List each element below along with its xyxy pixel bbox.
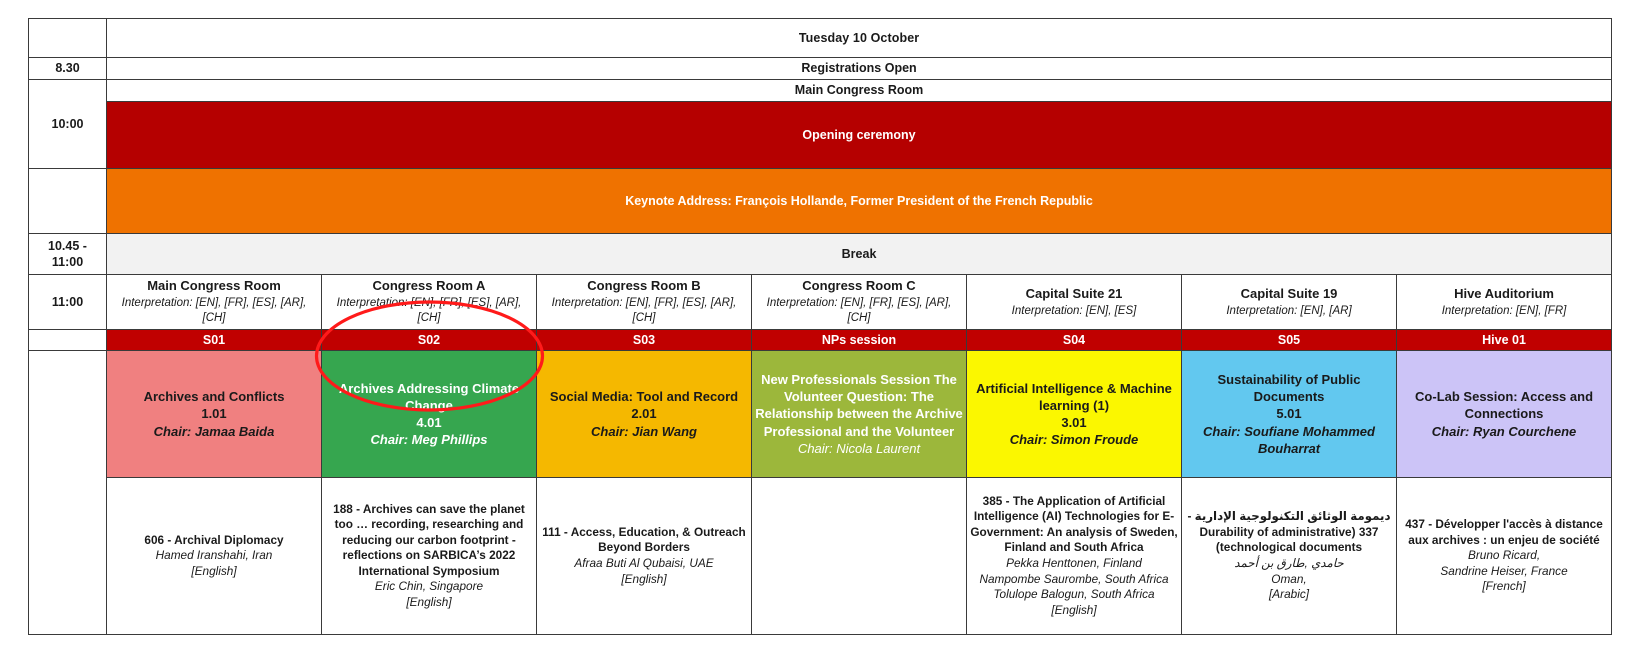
room-header-4: Capital Suite 21 Interpretation: [EN], […	[967, 275, 1182, 330]
keynote-row: Keynote Address: François Hollande, Form…	[29, 169, 1612, 234]
session-title-5: Sustainability of Public Documents	[1185, 371, 1393, 405]
session-code-4: S04	[967, 329, 1182, 351]
paper-title-0: 606 - Archival Diplomacy	[110, 533, 318, 549]
day-title: Tuesday 10 October	[107, 19, 1612, 58]
day-title-row: Tuesday 10 October	[29, 19, 1612, 58]
room-name-2: Congress Room B	[540, 277, 748, 294]
room-name-1: Congress Room A	[325, 277, 533, 294]
paper-language-0: [English]	[110, 564, 318, 580]
session-code-1: S02	[322, 329, 537, 351]
session-cell-6[interactable]: Co-Lab Session: Access and Connections C…	[1397, 351, 1612, 478]
main-room-label-row: 10:00 Main Congress Room	[29, 80, 1612, 102]
keynote-block[interactable]: Keynote Address: François Hollande, Form…	[107, 169, 1612, 234]
session-chair-6: Chair: Ryan Courchene	[1400, 423, 1608, 440]
room-header-1: Congress Room A Interpretation: [EN], [F…	[322, 275, 537, 330]
paper-author-rtl-5-0: حامدي ,طارق بن أحمد	[1185, 556, 1393, 572]
paper-language-4: [English]	[970, 603, 1178, 619]
room-header-2: Congress Room B Interpretation: [EN], [F…	[537, 275, 752, 330]
paper-author-6-0: Bruno Ricard,	[1400, 548, 1608, 564]
room-interpretation-3: Interpretation: [EN], [FR], [ES], [AR], …	[755, 296, 963, 326]
room-name-3: Congress Room C	[755, 277, 963, 294]
conference-schedule-table: Tuesday 10 October 8.30 Registrations Op…	[28, 18, 1612, 635]
session-chair-2: Chair: Jian Wang	[540, 423, 748, 440]
registrations-row: 8.30 Registrations Open	[29, 58, 1612, 80]
room-interpretation-1: Interpretation: [EN], [FR], [ES], [AR], …	[325, 296, 533, 326]
paper-cell-4[interactable]: 385 - The Application of Artificial Inte…	[967, 478, 1182, 635]
time-sessions: 11:00	[29, 275, 107, 330]
session-code-0: S01	[107, 329, 322, 351]
time-break: 10.45 - 11:00	[29, 234, 107, 275]
paper-author-0-0: Hamed Iranshahi, Iran	[110, 548, 318, 564]
paper-cell-1[interactable]: 188 - Archives can save the planet too ……	[322, 478, 537, 635]
room-name-0: Main Congress Room	[110, 277, 318, 294]
room-header-row: 11:00 Main Congress Room Interpretation:…	[29, 275, 1612, 330]
room-interpretation-6: Interpretation: [EN], [FR]	[1400, 304, 1608, 319]
session-chair-4: Chair: Simon Froude	[970, 431, 1178, 448]
session-code-row: S01 S02 S03 NPs session S04 S05 Hive 01	[29, 329, 1612, 351]
time-cell-sessions-empty	[29, 351, 107, 635]
paper-author-4-2: Tolulope Balogun, South Africa	[970, 587, 1178, 603]
time-cell-codes-empty	[29, 329, 107, 351]
time-cell-empty	[29, 19, 107, 58]
paper-language-5: [Arabic]	[1185, 587, 1393, 603]
room-header-6: Hive Auditorium Interpretation: [EN], [F…	[1397, 275, 1612, 330]
session-code-6: Hive 01	[1397, 329, 1612, 351]
session-cell-1[interactable]: Archives Addressing Climate Change 4.01 …	[322, 351, 537, 478]
session-chair-5: Chair: Soufiane Mohammed Bouharrat	[1185, 423, 1393, 457]
paper-author-6-1: Sandrine Heiser, France	[1400, 564, 1608, 580]
paper-cell-3	[752, 478, 967, 635]
paper-cell-5[interactable]: ديمومة الوثائق التكنولوجية الإدارية - 33…	[1182, 478, 1397, 635]
paper-language-2: [English]	[540, 572, 748, 588]
registrations-label: Registrations Open	[107, 58, 1612, 80]
room-header-3: Congress Room C Interpretation: [EN], [F…	[752, 275, 967, 330]
opening-ceremony-block[interactable]: Opening ceremony	[107, 102, 1612, 169]
paper-author-5-0: Oman,	[1185, 572, 1393, 588]
paper-language-1: [English]	[325, 595, 533, 611]
room-header-5: Capital Suite 19 Interpretation: [EN], […	[1182, 275, 1397, 330]
break-block: Break	[107, 234, 1612, 275]
paper-cell-0[interactable]: 606 - Archival Diplomacy Hamed Iranshahi…	[107, 478, 322, 635]
room-name-6: Hive Auditorium	[1400, 285, 1608, 302]
session-cell-4[interactable]: Artificial Intelligence & Machine learni…	[967, 351, 1182, 478]
session-cell-2[interactable]: Social Media: Tool and Record 2.01 Chair…	[537, 351, 752, 478]
paper-language-6: [French]	[1400, 579, 1608, 595]
session-chair-1: Chair: Meg Phillips	[325, 431, 533, 448]
session-number-5: 5.01	[1185, 405, 1393, 422]
session-number-2: 2.01	[540, 405, 748, 422]
opening-ceremony-row: Opening ceremony	[29, 102, 1612, 169]
room-interpretation-0: Interpretation: [EN], [FR], [ES], [AR], …	[110, 296, 318, 326]
paper-cell-2[interactable]: 111 - Access, Education, & Outreach Beyo…	[537, 478, 752, 635]
paper-author-1-0: Eric Chin, Singapore	[325, 579, 533, 595]
room-interpretation-5: Interpretation: [EN], [AR]	[1185, 304, 1393, 319]
main-congress-room-label: Main Congress Room	[107, 80, 1612, 102]
room-name-5: Capital Suite 19	[1185, 285, 1393, 302]
session-code-5: S05	[1182, 329, 1397, 351]
room-name-4: Capital Suite 21	[970, 285, 1178, 302]
session-number-4: 3.01	[970, 414, 1178, 431]
room-header-0: Main Congress Room Interpretation: [EN],…	[107, 275, 322, 330]
paper-title-1: 188 - Archives can save the planet too ……	[325, 502, 533, 580]
break-row: 10.45 - 11:00 Break	[29, 234, 1612, 275]
paper-author-4-0: Pekka Henttonen, Finland	[970, 556, 1178, 572]
session-title-2: Social Media: Tool and Record	[540, 388, 748, 405]
paper-author-2-0: Afraa Buti Al Qubaisi, UAE	[540, 556, 748, 572]
room-interpretation-4: Interpretation: [EN], [ES]	[970, 304, 1178, 319]
session-title-6: Co-Lab Session: Access and Connections	[1400, 388, 1608, 422]
session-row: Archives and Conflicts 1.01 Chair: Jamaa…	[29, 351, 1612, 478]
session-title-1: Archives Addressing Climate Change	[325, 380, 533, 414]
room-interpretation-2: Interpretation: [EN], [FR], [ES], [AR], …	[540, 296, 748, 326]
time-registrations: 8.30	[29, 58, 107, 80]
paper-cell-6[interactable]: 437 - Développer l'accès à distance aux …	[1397, 478, 1612, 635]
time-cell-keynote-empty	[29, 169, 107, 234]
session-cell-0[interactable]: Archives and Conflicts 1.01 Chair: Jamaa…	[107, 351, 322, 478]
session-code-3: NPs session	[752, 329, 967, 351]
session-title-3: New Professionals Session The Volunteer …	[755, 371, 963, 440]
session-cell-3[interactable]: New Professionals Session The Volunteer …	[752, 351, 967, 478]
schedule-sheet: Tuesday 10 October 8.30 Registrations Op…	[0, 0, 1650, 648]
time-opening: 10:00	[29, 80, 107, 169]
paper-title-4: 385 - The Application of Artificial Inte…	[970, 494, 1178, 556]
session-chair-0: Chair: Jamaa Baida	[110, 423, 318, 440]
paper-title-6: 437 - Développer l'accès à distance aux …	[1400, 517, 1608, 548]
paper-title-2: 111 - Access, Education, & Outreach Beyo…	[540, 525, 748, 556]
session-number-1: 4.01	[325, 414, 533, 431]
session-number-0: 1.01	[110, 405, 318, 422]
paper-author-4-1: Nampombe Saurombe, South Africa	[970, 572, 1178, 588]
session-title-4: Artificial Intelligence & Machine learni…	[970, 380, 1178, 414]
session-title-0: Archives and Conflicts	[110, 388, 318, 405]
session-chair-3: Chair: Nicola Laurent	[755, 440, 963, 457]
paper-title-5: ديمومة الوثائق التكنولوجية الإدارية - 33…	[1185, 509, 1393, 556]
session-code-2: S03	[537, 329, 752, 351]
session-cell-5[interactable]: Sustainability of Public Documents 5.01 …	[1182, 351, 1397, 478]
paper-row: 606 - Archival Diplomacy Hamed Iranshahi…	[29, 478, 1612, 635]
